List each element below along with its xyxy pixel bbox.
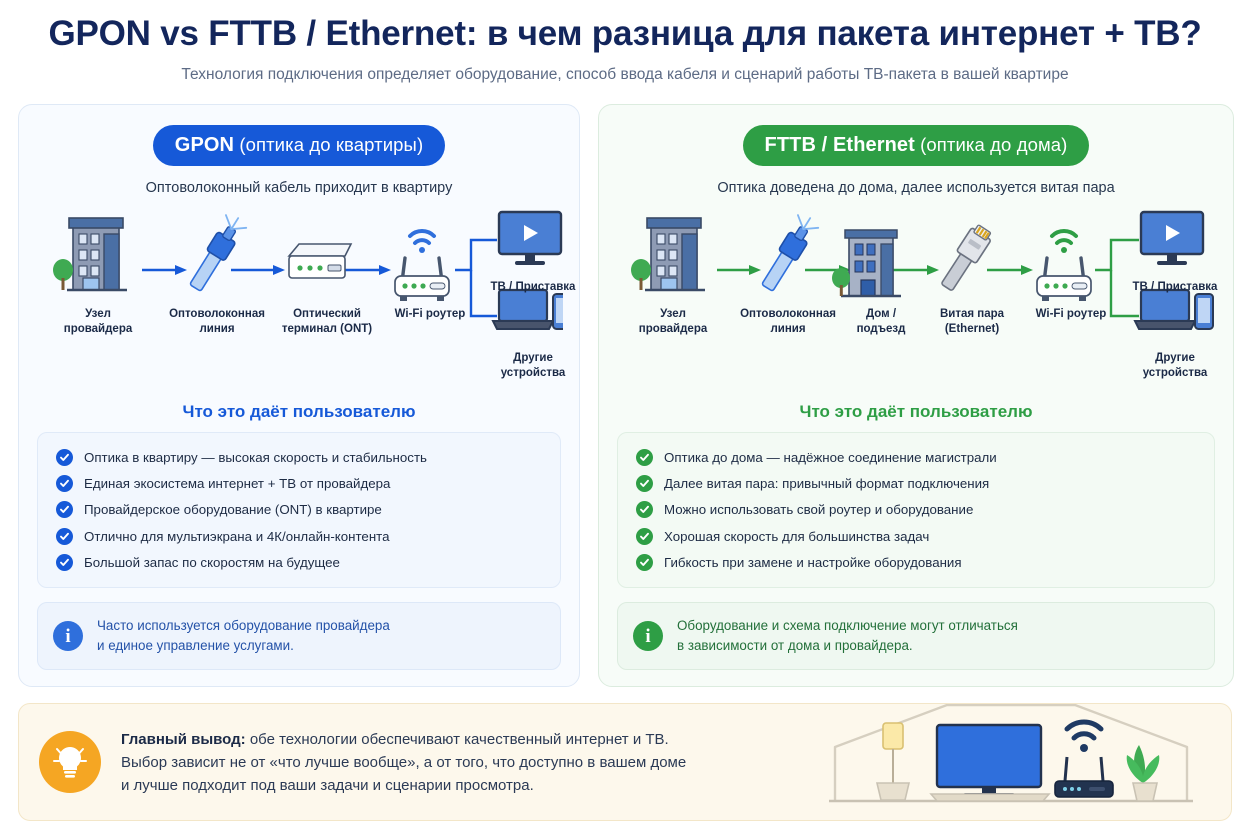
panel-fttb-badge-light: (оптика до дома) (915, 134, 1068, 155)
home-setup-illustration (827, 703, 1195, 812)
check-icon (56, 501, 73, 518)
node-gpon-ont-label: Оптический терминал (ONT) (267, 307, 387, 336)
conclusion-lead: Главный вывод: (121, 731, 246, 748)
node-gpon-provider: Узел провайдера (45, 300, 151, 336)
conclusion-line-2: Выбор зависит не от «что лучше вообще», … (121, 751, 686, 774)
ont-terminal-icon (289, 244, 351, 278)
check-icon (636, 449, 653, 466)
endpoint-label-other-fttb: Другие устройства (1135, 351, 1215, 380)
comparison-panels: GPON (оптика до квартиры) Оптоволоконный… (0, 84, 1250, 687)
laptop-phone-icon (493, 290, 563, 329)
list-item: Провайдерское оборудование (ONT) в кварт… (52, 497, 546, 523)
check-icon (636, 528, 653, 545)
info-icon: i (633, 621, 663, 651)
tv-screen-icon (931, 725, 1049, 801)
list-item-label: Хорошая скорость для большинства задач (664, 528, 929, 545)
list-item-label: Большой запас по скоростям на будущее (84, 554, 340, 571)
check-icon (56, 475, 73, 492)
benefits-list-gpon: Оптика в квартиру — высокая скорость и с… (37, 432, 561, 587)
list-item: Оптика в квартиру — высокая скорость и с… (52, 444, 546, 470)
panel-gpon: GPON (оптика до квартиры) Оптоволоконный… (18, 104, 580, 687)
list-item-label: Гибкость при замене и настройке оборудов… (664, 554, 962, 571)
rj45-connector-icon (937, 223, 994, 294)
lightbulb-icon (39, 731, 101, 793)
page-header: GPON vs FTTB / Ethernet: в чем разница д… (0, 0, 1250, 84)
list-item: Гибкость при замене и настройке оборудов… (632, 549, 1200, 575)
info-icon: i (53, 621, 83, 651)
node-gpon-ont: Оптический терминал (ONT) (267, 300, 387, 336)
check-icon (636, 554, 653, 571)
laptop-phone-icon (1135, 290, 1213, 329)
check-icon (56, 449, 73, 466)
list-item: Оптика до дома — надёжное соединение маг… (632, 444, 1200, 470)
check-icon (56, 528, 73, 545)
node-gpon-router-label: Wi-Fi роутер (377, 307, 483, 322)
conclusion-text: Главный вывод: обе технологии обеспечива… (121, 728, 686, 798)
panel-gpon-badge: GPON (оптика до квартиры) (153, 125, 445, 166)
list-item: Единая экосистема интернет + ТВ от прова… (52, 471, 546, 497)
list-item: Можно использовать свой роутер и оборудо… (632, 497, 1200, 523)
list-item-label: Единая экосистема интернет + ТВ от прова… (84, 475, 390, 492)
floor-lamp-icon (877, 723, 909, 800)
conclusion-line1-rest: обе технологии обеспечивают качественный… (246, 731, 669, 748)
note-gpon-text: Часто используется оборудование провайде… (97, 616, 390, 657)
office-building-icon (631, 218, 705, 290)
list-item-label: Можно использовать свой роутер и оборудо… (664, 501, 973, 518)
panel-fttb-badge-strong: FTTB / Ethernet (765, 134, 915, 156)
node-fttb-router: Wi-Fi роутер (1017, 300, 1125, 322)
node-fttb-router-label: Wi-Fi роутер (1017, 307, 1125, 322)
conclusion-line-3: и лучше подходит под ваши задачи и сцена… (121, 774, 686, 797)
panel-fttb: FTTB / Ethernet (оптика до дома) Оптика … (598, 104, 1234, 687)
list-item: Большой запас по скоростям на будущее (52, 549, 546, 575)
check-icon (636, 475, 653, 492)
panel-fttb-badge: FTTB / Ethernet (оптика до дома) (743, 125, 1090, 166)
note-fttb: i Оборудование и схема подключение могут… (617, 602, 1215, 671)
fiber-optic-connector-icon (757, 212, 821, 294)
panel-gpon-badge-light: (оптика до квартиры) (234, 134, 423, 155)
panel-gpon-badge-strong: GPON (175, 134, 234, 156)
endpoint-label-tv-fttb: ТВ / Приставка (1125, 280, 1225, 295)
conclusion-line-1: Главный вывод: обе технологии обеспечива… (121, 728, 686, 751)
office-building-icon (53, 218, 127, 290)
tv-screen-icon (499, 212, 561, 265)
benefits-heading-fttb: Что это даёт пользователю (617, 402, 1215, 422)
endpoint-label-tv-gpon: ТВ / Приставка (483, 280, 583, 295)
infographic-page: GPON vs FTTB / Ethernet: в чем разница д… (0, 0, 1250, 833)
list-item-label: Оптика в квартиру — высокая скорость и с… (84, 449, 427, 466)
endpoint-label-other-gpon: Другие устройства (493, 351, 573, 380)
panel-gpon-subtitle: Оптоволоконный кабель приходит в квартир… (37, 180, 561, 196)
wifi-router-icon (1037, 231, 1091, 301)
node-fttb-provider: Узел провайдера (621, 300, 725, 336)
list-item-label: Оптика до дома — надёжное соединение маг… (664, 449, 997, 466)
diagram-gpon: ТВ / Приставка Другие устройства Узел пр… (37, 208, 561, 398)
list-item: Далее витая пара: привычный формат подкл… (632, 471, 1200, 497)
list-item-label: Далее витая пара: привычный формат подкл… (664, 475, 989, 492)
diagram-fttb: ТВ / Приставка Другие устройства Узел пр… (617, 208, 1215, 398)
node-gpon-fiber: Оптоволоконная линия (157, 300, 277, 336)
panel-fttb-subtitle: Оптика доведена до дома, далее используе… (617, 180, 1215, 196)
wifi-router-icon (395, 231, 449, 301)
node-fttb-provider-label: Узел провайдера (621, 307, 725, 336)
check-icon (56, 554, 73, 571)
page-subtitle: Технология подключения определяет оборуд… (0, 66, 1250, 84)
node-fttb-twistedpair-label: Витая пара (Ethernet) (917, 307, 1027, 336)
note-gpon: i Часто используется оборудование провай… (37, 602, 561, 671)
node-gpon-provider-label: Узел провайдера (45, 307, 151, 336)
residential-building-icon (832, 230, 901, 296)
benefits-list-fttb: Оптика до дома — надёжное соединение маг… (617, 432, 1215, 587)
benefits-heading-gpon: Что это даёт пользователю (37, 402, 561, 422)
node-gpon-fiber-label: Оптоволоконная линия (157, 307, 277, 336)
plant-icon (1127, 745, 1160, 801)
conclusion-box: Главный вывод: обе технологии обеспечива… (18, 703, 1232, 821)
note-fttb-text: Оборудование и схема подключение могут о… (677, 616, 1018, 657)
page-title: GPON vs FTTB / Ethernet: в чем разница д… (0, 14, 1250, 54)
list-item: Отлично для мультиэкрана и 4К/онлайн-кон… (52, 523, 546, 549)
check-icon (636, 501, 653, 518)
tv-screen-icon (1141, 212, 1203, 265)
list-item: Хорошая скорость для большинства задач (632, 523, 1200, 549)
list-item-label: Провайдерское оборудование (ONT) в кварт… (84, 501, 382, 518)
node-gpon-router: Wi-Fi роутер (377, 300, 483, 322)
node-fttb-twistedpair: Витая пара (Ethernet) (917, 300, 1027, 336)
fiber-optic-connector-icon (185, 212, 249, 294)
wifi-router-icon (1055, 722, 1113, 797)
list-item-label: Отлично для мультиэкрана и 4К/онлайн-кон… (84, 528, 390, 545)
